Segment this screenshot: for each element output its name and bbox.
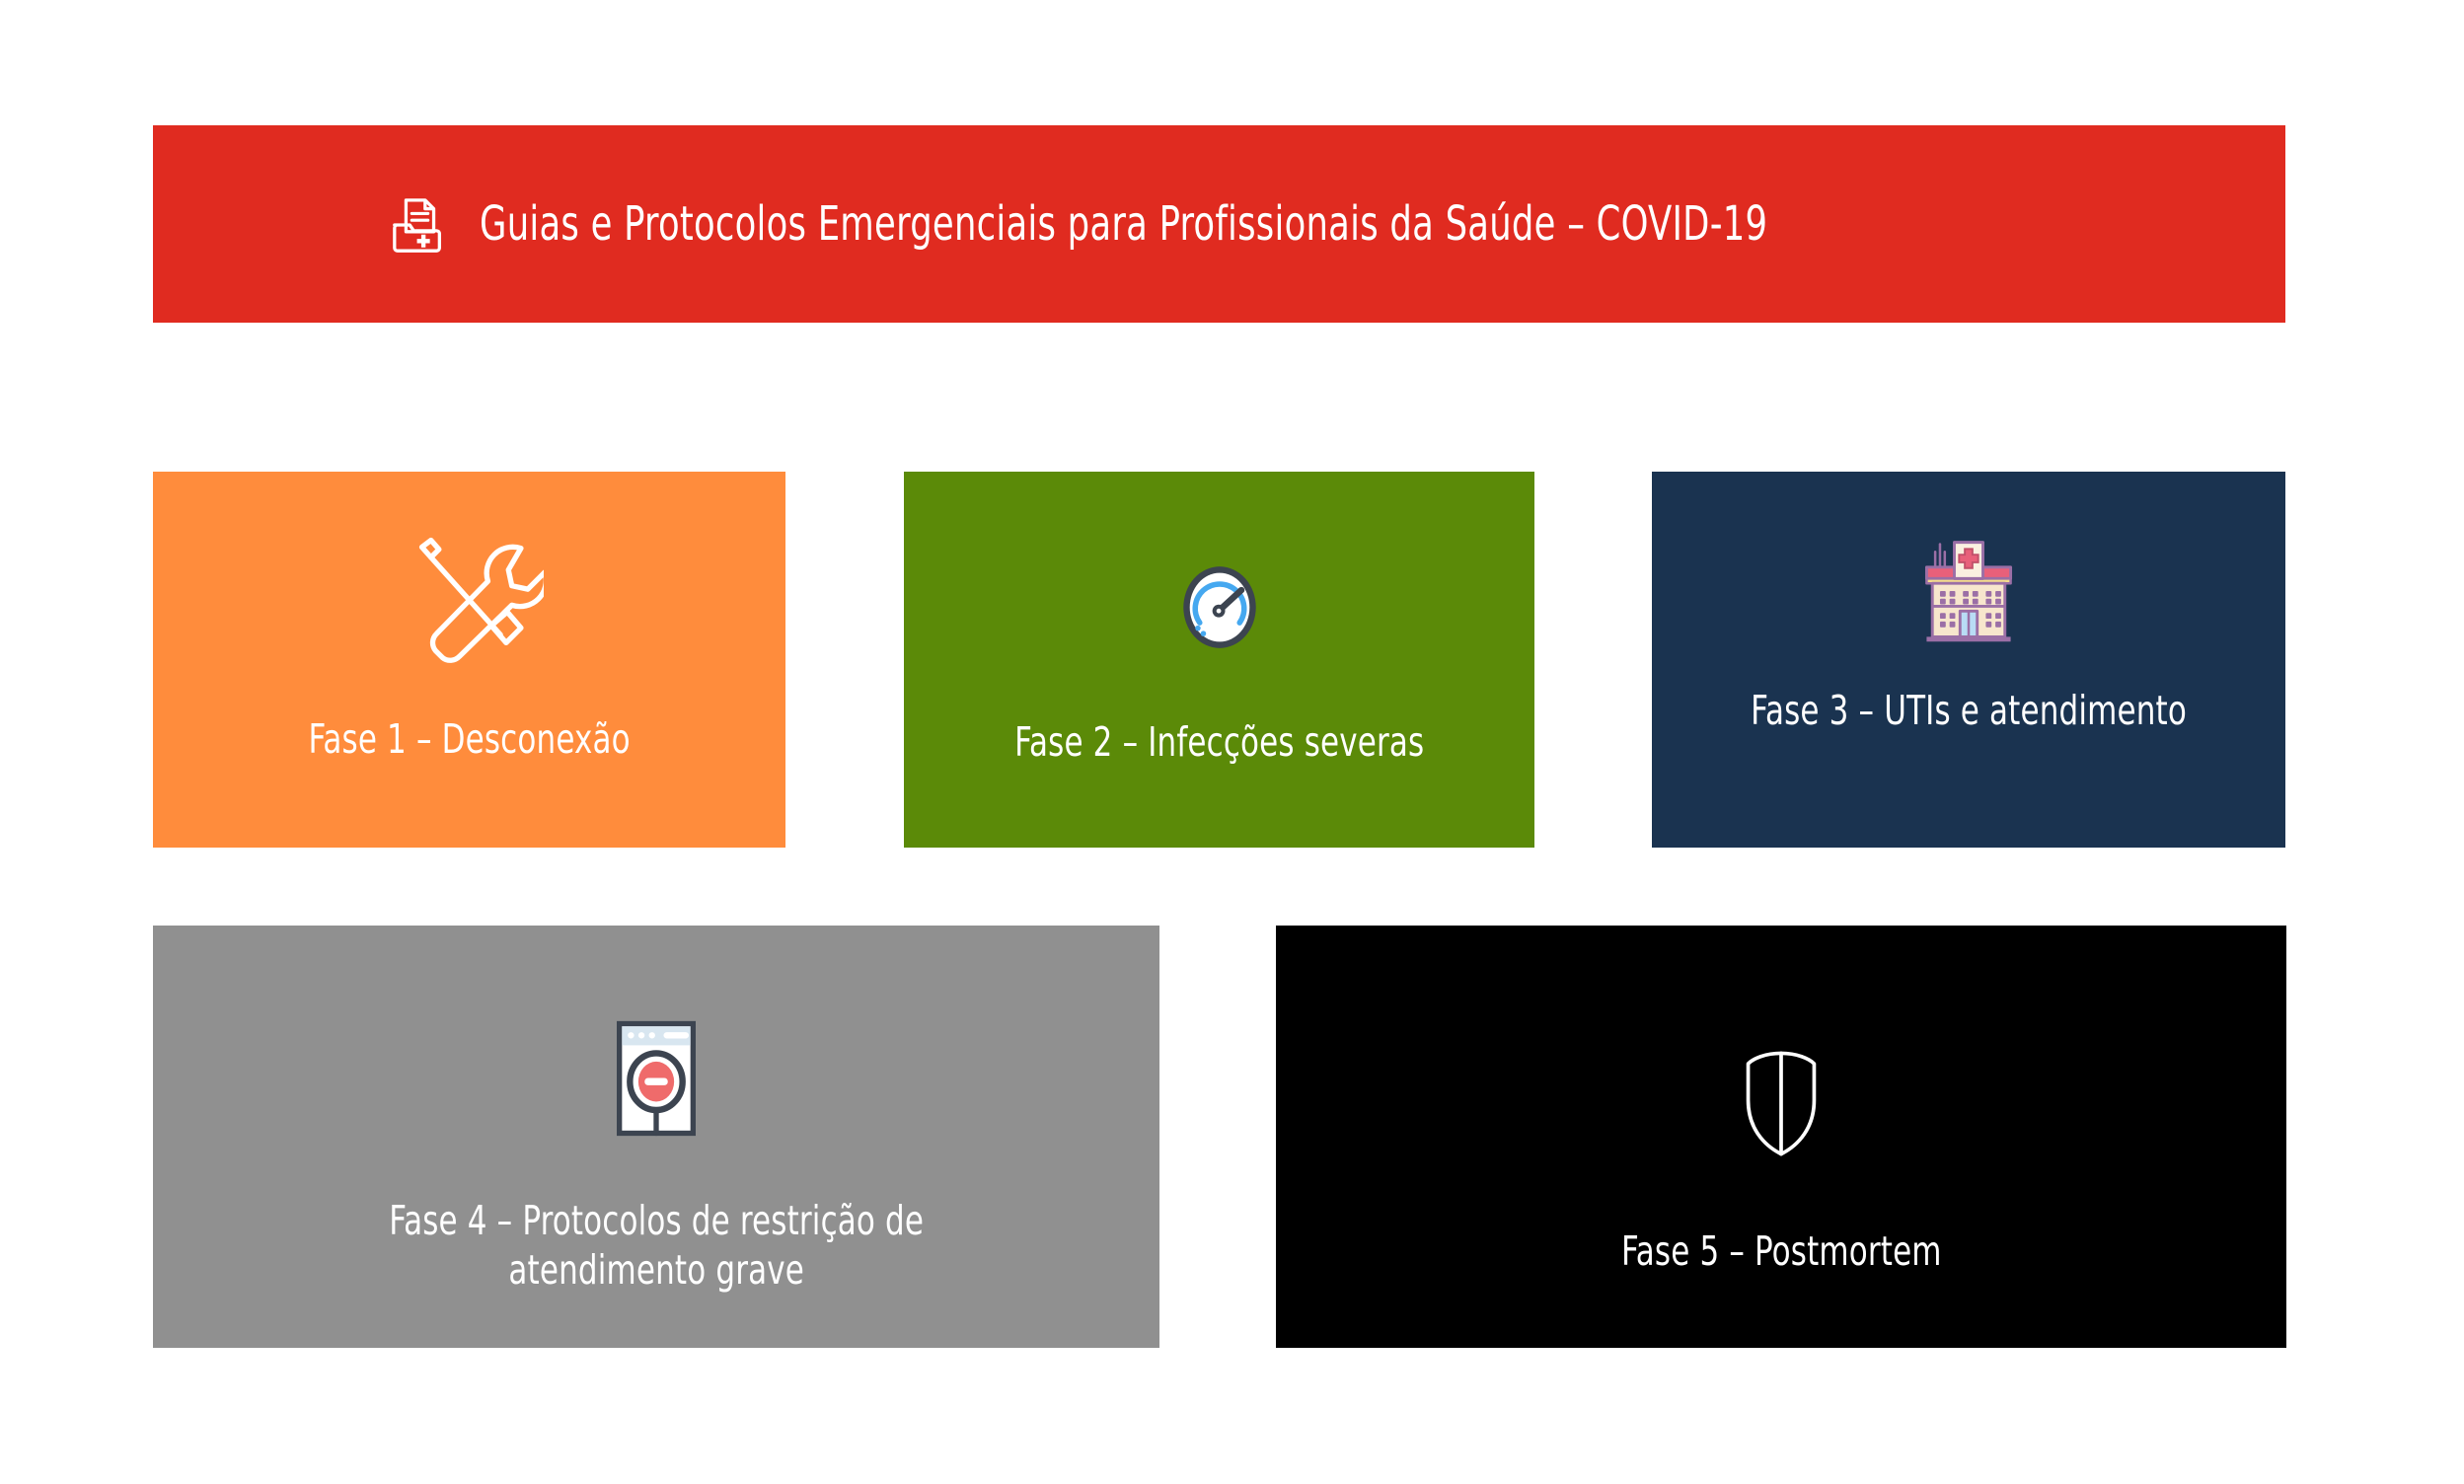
- phase-card-2[interactable]: Fase 2 – Infecções severas: [904, 472, 1534, 848]
- shield-icon: [1738, 1048, 1825, 1159]
- phase-card-3[interactable]: Fase 3 – UTIs e atendimento: [1652, 472, 2285, 848]
- page-root: Guias e Protocolos Emergenciais para Pro…: [0, 0, 2464, 1484]
- phase-card-2-label: Fase 2 – Infecções severas: [992, 717, 1448, 767]
- crossed-tools-icon: [396, 529, 544, 677]
- browser-blocked-search-icon: [609, 1015, 704, 1142]
- card-5-icon-area: [1276, 926, 2286, 1226]
- speedometer-gauge-icon: [1174, 557, 1265, 657]
- medical-kit-document-icon: [389, 195, 450, 257]
- header-title: Guias e Protocolos Emergenciais para Pro…: [480, 196, 1767, 252]
- phase-card-3-label: Fase 3 – UTIs e atendimento: [1740, 686, 2198, 735]
- phase-card-5[interactable]: Fase 5 – Postmortem: [1276, 926, 2286, 1348]
- phase-card-4[interactable]: Fase 4 – Protocolos de restrição de aten…: [153, 926, 1159, 1348]
- card-3-icon-area: [1652, 472, 2285, 686]
- card-2-icon-area: [904, 472, 1534, 713]
- card-4-icon-area: [153, 926, 1159, 1192]
- header-content: Guias e Protocolos Emergenciais para Pro…: [389, 193, 2051, 255]
- phase-card-1-label: Fase 1 – Desconexão: [241, 714, 698, 764]
- hospital-building-icon: [1909, 531, 2028, 649]
- phase-card-1[interactable]: Fase 1 – Desconexão: [153, 472, 785, 848]
- phase-card-4-label: Fase 4 – Protocolos de restrição de aten…: [352, 1196, 961, 1295]
- card-1-icon-area: [153, 472, 785, 708]
- phase-card-5-label: Fase 5 – Postmortem: [1416, 1226, 2146, 1276]
- page-header-banner: Guias e Protocolos Emergenciais para Pro…: [153, 125, 2285, 323]
